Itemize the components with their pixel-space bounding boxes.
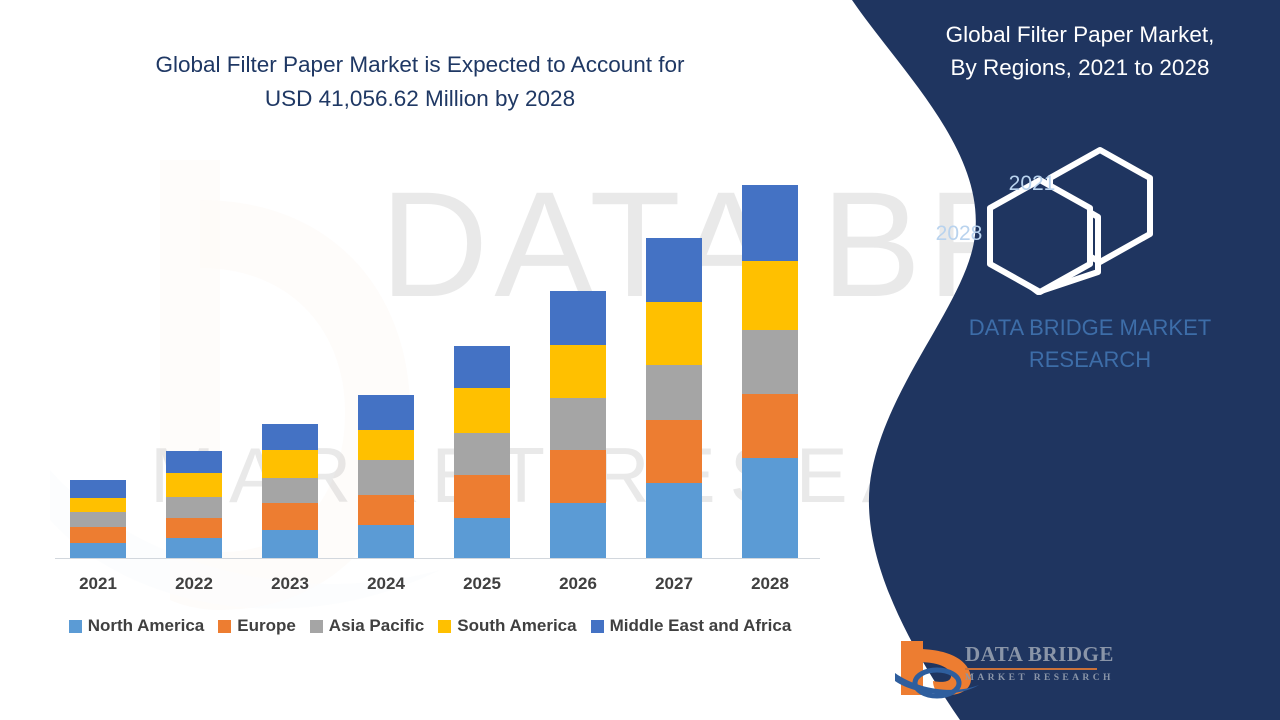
bar-segment [358, 525, 414, 558]
right-title-line1: Global Filter Paper Market, [880, 18, 1280, 51]
bar-stack-2023 [262, 424, 318, 558]
legend-swatch-icon [310, 620, 323, 633]
bar-segment [454, 388, 510, 433]
x-axis-label-2026: 2026 [533, 574, 623, 594]
logo-tagline: MARKET RESEARCH [965, 673, 1115, 683]
right-panel-title: Global Filter Paper Market, By Regions, … [880, 18, 1280, 84]
bar-segment [358, 430, 414, 460]
bar-segment [166, 473, 222, 497]
bar-stack-2027 [646, 238, 702, 558]
bar-segment [646, 238, 702, 302]
x-axis-line [55, 558, 820, 559]
bar-segment [166, 538, 222, 558]
logo-name: DATA BRIDGE [965, 642, 1115, 666]
bar-segment [70, 527, 126, 543]
legend-item[interactable]: Middle East and Africa [591, 616, 792, 636]
bar-segment [166, 518, 222, 538]
bar-segment [262, 503, 318, 530]
bar-segment [166, 451, 222, 473]
bar-segment [742, 394, 798, 458]
bar-segment [550, 503, 606, 558]
bar-stack-2025 [454, 346, 510, 558]
bar-segment [646, 302, 702, 365]
right-title-line2: By Regions, 2021 to 2028 [880, 51, 1280, 84]
bar-segment [646, 483, 702, 558]
logo-divider [965, 668, 1097, 670]
bar-stack-2021 [70, 480, 126, 558]
right-panel-content: Global Filter Paper Market, By Regions, … [900, 0, 1280, 720]
hexagon-2028-shape [990, 180, 1090, 292]
x-axis-label-2027: 2027 [629, 574, 719, 594]
bar-segment [262, 450, 318, 478]
bar-segment [454, 475, 510, 518]
x-axis-label-2024: 2024 [341, 574, 431, 594]
bar-segment [70, 543, 126, 558]
x-axis-label-2021: 2021 [53, 574, 143, 594]
legend-item[interactable]: South America [438, 616, 576, 636]
bar-segment [262, 424, 318, 450]
bar-segment [646, 420, 702, 483]
hexagon-2028-label: 2028 [914, 222, 1004, 246]
bar-segment [550, 291, 606, 345]
bar-stack-2026 [550, 291, 606, 558]
legend-label: Middle East and Africa [610, 616, 792, 636]
legend-label: Asia Pacific [329, 616, 424, 636]
legend-label: Europe [237, 616, 296, 636]
legend-label: South America [457, 616, 576, 636]
hexagon-2021-label: 2021 [992, 172, 1072, 196]
x-axis-label-2028: 2028 [725, 574, 815, 594]
legend-item[interactable]: Asia Pacific [310, 616, 424, 636]
bar-stack-2024 [358, 395, 414, 558]
logo-text-block: DATA BRIDGE MARKET RESEARCH [965, 642, 1115, 683]
bar-segment [166, 497, 222, 518]
bar-segment [70, 498, 126, 512]
legend-swatch-icon [69, 620, 82, 633]
x-axis-label-2022: 2022 [149, 574, 239, 594]
bar-segment [358, 395, 414, 430]
stacked-bar-chart: 20212022202320242025202620272028 [0, 0, 900, 720]
bar-stack-2022 [166, 451, 222, 558]
bar-segment [454, 518, 510, 558]
bar-segment [262, 530, 318, 558]
x-axis-label-2023: 2023 [245, 574, 335, 594]
chart-legend: North AmericaEuropeAsia PacificSouth Ame… [0, 616, 860, 636]
bar-segment [70, 512, 126, 527]
bar-segment [646, 365, 702, 420]
legend-item[interactable]: North America [69, 616, 205, 636]
bar-stack-2028 [742, 185, 798, 558]
legend-swatch-icon [591, 620, 604, 633]
bar-segment [742, 185, 798, 261]
hexagon-group-icon [980, 140, 1200, 300]
bar-segment [454, 346, 510, 388]
bar-segment [70, 480, 126, 498]
bar-segment [262, 478, 318, 503]
left-chart-panel: DATA BRIDGE MARKET RESEARCH Global Filte… [0, 0, 900, 720]
bar-segment [550, 450, 606, 503]
legend-label: North America [88, 616, 205, 636]
legend-swatch-icon [218, 620, 231, 633]
brand-line1: DATA BRIDGE MARKET [890, 312, 1280, 344]
legend-swatch-icon [438, 620, 451, 633]
bar-segment [454, 433, 510, 475]
bar-segment [742, 458, 798, 558]
bar-segment [358, 460, 414, 495]
bar-segment [358, 495, 414, 525]
bar-segment [742, 261, 798, 330]
bar-segment [550, 398, 606, 450]
legend-item[interactable]: Europe [218, 616, 296, 636]
x-axis-label-2025: 2025 [437, 574, 527, 594]
brand-name-text: DATA BRIDGE MARKET RESEARCH [890, 312, 1280, 376]
bar-segment [550, 345, 606, 398]
infographic-slide: DATA BRIDGE MARKET RESEARCH Global Filte… [0, 0, 1280, 720]
bar-segment [742, 330, 798, 394]
brand-line2: RESEARCH [890, 344, 1280, 376]
